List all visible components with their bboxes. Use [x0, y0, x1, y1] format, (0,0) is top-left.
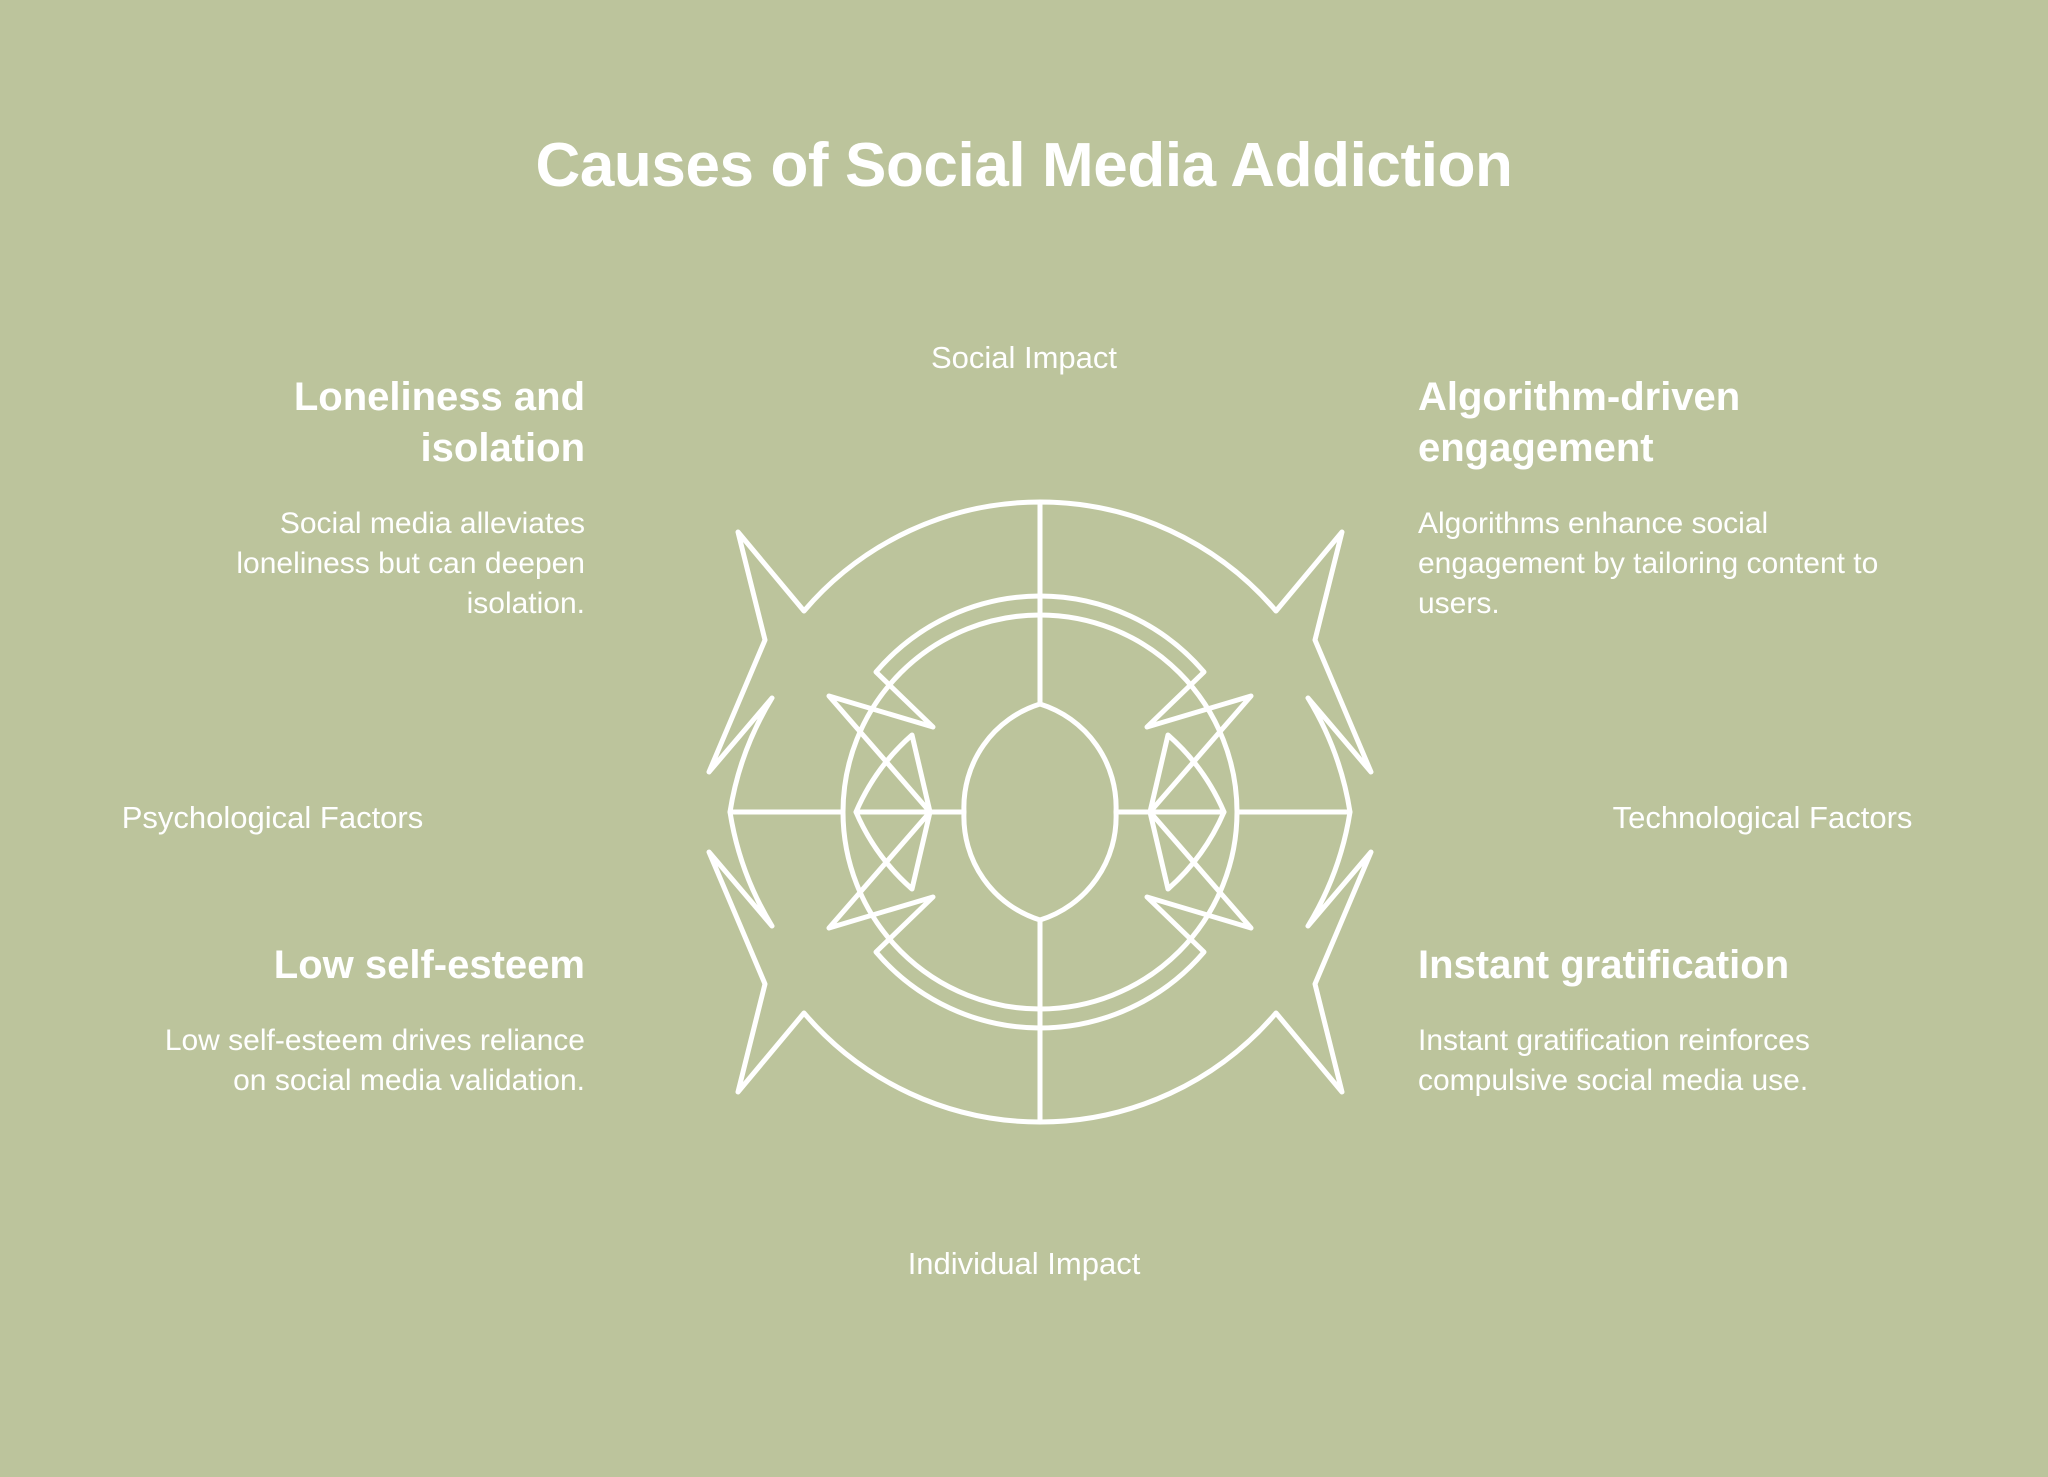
quadrant-top-left: Loneliness and isolation Social media al… [145, 372, 585, 624]
inner-segment-top-right [1040, 596, 1251, 812]
quadrant-bottom-left: Low self-esteem Low self-esteem drives r… [145, 940, 585, 1101]
quadrant-bottom-right-body: Instant gratification reinforces compuls… [1418, 1021, 1938, 1101]
quadrant-top-right-heading: Algorithm-driven engagement [1418, 372, 1938, 474]
outer-segment-bottom-right [1040, 812, 1371, 1122]
quadrant-bottom-right-heading: Instant gratification [1418, 940, 1938, 991]
quadrant-top-left-body: Social media alleviates loneliness but c… [145, 504, 585, 624]
axis-label-left: Psychological Factors [0, 800, 545, 836]
quadrant-top-right: Algorithm-driven engagement Algorithms e… [1418, 372, 1938, 624]
quadrant-top-right-body: Algorithms enhance social engagement by … [1418, 504, 1938, 624]
outer-segment-bottom-left [709, 812, 1040, 1122]
axis-label-top: Social Impact [0, 340, 2048, 376]
quadrant-bottom-left-body: Low self-esteem drives reliance on socia… [145, 1021, 585, 1101]
inner-segment-bottom-left [829, 812, 1040, 1028]
ring-strokes [709, 502, 1371, 1122]
axis-label-right: Technological Factors [1490, 800, 2035, 836]
outer-segment-top-left [709, 502, 1040, 812]
infographic-canvas: Causes of Social Media Addiction Social … [0, 0, 2048, 1477]
cycle-ring-svg [700, 468, 1380, 1156]
quadrant-bottom-left-heading: Low self-esteem [145, 940, 585, 991]
page-title: Causes of Social Media Addiction [0, 132, 2048, 200]
inner-segment-top-left [829, 596, 1040, 812]
inner-segment-bottom-right [1040, 812, 1251, 1028]
axis-label-bottom: Individual Impact [0, 1246, 2048, 1282]
cycle-ring-diagram [700, 468, 1380, 1156]
quadrant-top-left-heading: Loneliness and isolation [145, 372, 585, 474]
outer-segment-top-right [1040, 502, 1371, 812]
quadrant-bottom-right: Instant gratification Instant gratificat… [1418, 940, 1938, 1101]
